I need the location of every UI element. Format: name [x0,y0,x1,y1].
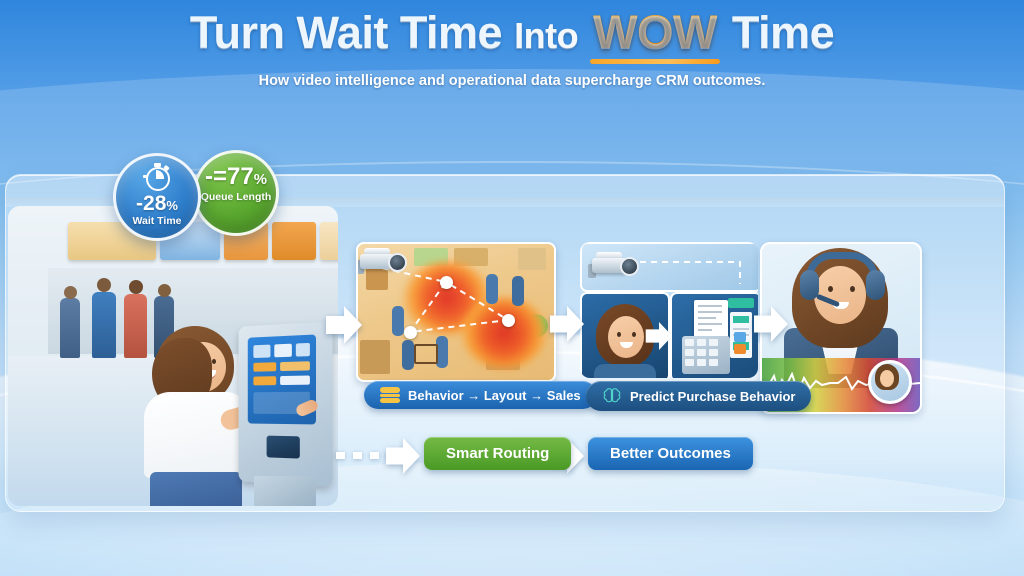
headset-earcup [866,270,885,300]
receipt-line [733,328,749,330]
title-part2: Time [732,7,834,58]
kiosk-tile [296,343,310,357]
badge-wait-time: -28% Wait Time [113,153,201,241]
shopper [512,276,524,306]
kiosk-tile [253,345,270,358]
badge-number: -=77 [205,163,254,190]
queue-person-head [97,278,111,292]
pill-behavior-layout-sales[interactable]: Behavior → Layout → Sales [364,381,597,409]
header: Turn Wait Time Into WOW Time How video i… [0,8,1024,89]
kiosk-tile [280,361,310,371]
title-into: Into [514,15,578,56]
customer-eye [212,359,216,364]
pos-button-orange[interactable] [734,344,746,354]
security-camera-icon [586,250,642,284]
agent-eye [828,286,833,292]
self-service-kiosk[interactable] [236,324,332,506]
path-node [404,326,417,339]
flow-arrow-4 [384,438,422,474]
kiosk-tile [253,376,276,385]
layers-icon [380,387,400,403]
camera-lens [620,257,639,276]
pill-label: Predict Purchase Behavior [630,389,795,404]
pos-display [728,298,754,308]
infographic-canvas: Turn Wait Time Into WOW Time How video i… [0,0,1024,576]
captured-face-eye [632,332,636,337]
agent-eye [850,286,855,292]
keypad-key[interactable] [709,349,718,356]
path-node [502,314,515,327]
flow-arrow-2 [550,306,584,342]
kiosk-pedestal [254,476,316,506]
receipt-line [698,323,722,325]
captured-face [608,316,644,358]
queue-person [92,292,116,358]
shopper [402,340,414,370]
badge-queue-length: -=77% Queue Length [193,150,279,236]
page-title: Turn Wait Time Into WOW Time [190,8,834,55]
keypad-key[interactable] [685,359,694,366]
badge-label: Queue Length [196,192,276,203]
shopper [392,306,404,336]
menu-board [320,222,338,260]
title-wow-wrap: WOW [590,8,720,55]
face-to-pos-arrow [642,322,676,350]
customer-jeans [150,472,242,506]
avatar-face [880,370,894,387]
keypad-key[interactable] [685,349,694,356]
brain-icon [602,387,622,405]
receipt-line [698,305,722,307]
captured-face-eye [617,332,621,337]
badge-unit: % [254,172,267,188]
customer-shirt [144,392,248,478]
queue-person [60,298,80,358]
pill-label: Smart Routing [446,445,549,462]
path-node [440,276,453,289]
wow-underline [590,59,720,64]
receipt-line [698,311,722,313]
pos-terminal[interactable] [670,292,758,378]
badge-number: -28 [136,192,166,215]
shopping-cart-icon [414,344,438,364]
title-wow: WOW [593,5,717,58]
kiosk-tile [274,344,292,358]
stopwatch-icon [144,163,170,189]
queue-person-head [158,284,171,297]
kiosk-tile [280,375,310,385]
kiosk-card-reader[interactable] [267,436,300,459]
keypad-key[interactable] [697,359,706,366]
kiosk-tile [253,362,276,371]
panel-kiosk-scene [8,206,338,506]
pill-label: Behavior → Layout → Sales [408,388,581,403]
panel-pos-capture [580,242,758,378]
page-subtitle: How video intelligence and operational d… [0,73,1024,89]
pill-smart-routing[interactable]: Smart Routing [424,437,571,470]
pos-keypad[interactable] [682,336,730,374]
security-camera-icon [356,246,406,280]
camera-frame [580,242,758,292]
customer-avatar [868,360,912,404]
menu-board [272,222,316,260]
keypad-key[interactable] [697,349,706,356]
queue-person-head [64,286,77,299]
receipt-chip [733,316,749,323]
queue-person-head [129,280,143,294]
keypad-key[interactable] [709,359,718,366]
receipt-line [698,329,712,331]
keypad-key[interactable] [685,339,694,346]
badge-label: Wait Time [116,216,198,227]
camera-signal-dashes [640,252,758,286]
keypad-key[interactable] [709,339,718,346]
flow-arrow-1 [326,306,362,344]
badge-unit: % [166,198,178,213]
shopper [486,274,498,304]
flow-arrow-3 [754,306,788,342]
camera-lens [388,253,407,272]
pill-label: Better Outcomes [610,445,731,462]
receipt-line [698,317,716,319]
captured-person-body [594,364,656,378]
kiosk-body [239,321,333,487]
panel-store-heatmap [356,242,556,382]
title-part1: Turn Wait Time [190,7,502,58]
pill-better-outcomes[interactable]: Better Outcomes [588,437,753,470]
keypad-key[interactable] [697,339,706,346]
badge-value: -=77% [196,165,276,189]
pos-button-blue[interactable] [734,332,746,342]
pill-predict-purchase-behavior[interactable]: Predict Purchase Behavior [586,381,811,411]
badge-value: -28% [116,193,198,214]
